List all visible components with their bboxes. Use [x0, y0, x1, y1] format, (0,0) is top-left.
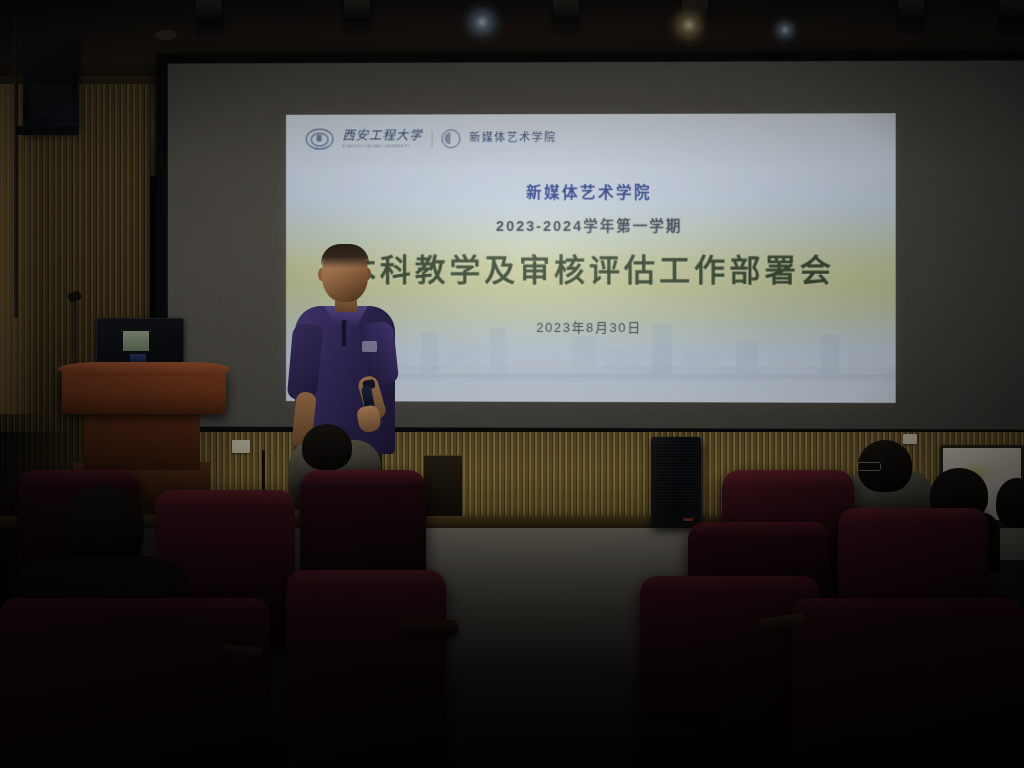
- presenter-hair: [321, 244, 369, 268]
- podium-body: [84, 408, 200, 470]
- speaker-support-pole: [14, 18, 18, 318]
- logo-divider: [432, 130, 433, 148]
- slide-logo-row: 西安工程大学 XI'AN POLYTECHNIC UNIVERSITY 新媒体艺…: [306, 128, 557, 149]
- audience-member-head-front: [302, 424, 352, 470]
- seat-rim: [838, 508, 988, 524]
- projection-screen-frame: 西安工程大学 XI'AN POLYTECHNIC UNIVERSITY 新媒体艺…: [156, 50, 1024, 441]
- seat-rim: [0, 598, 270, 614]
- seat-front-right: [792, 598, 1024, 768]
- track-spotlight-3: [553, 0, 579, 30]
- ceiling-downlight-3: [770, 15, 800, 45]
- slide-organization: 新媒体艺术学院: [286, 181, 896, 204]
- ceiling-vent-icon: [155, 30, 177, 40]
- wall-equipment-box: [423, 455, 463, 517]
- wall-speaker: [23, 35, 78, 133]
- seat-rim: [286, 570, 446, 586]
- track-spotlight-6: [1000, 0, 1024, 32]
- seat-rim: [688, 522, 830, 538]
- seat-rim: [640, 576, 820, 592]
- track-spotlight-5: [898, 0, 924, 30]
- seat-armrest-left: [400, 620, 458, 636]
- wall-outlet-right-icon: [903, 434, 917, 444]
- track-spotlight-2: [344, 0, 370, 30]
- school-mark-icon: [442, 129, 461, 148]
- wall-speaker-bracket: [16, 126, 78, 135]
- ceiling-downlight-2: [667, 3, 711, 47]
- presenter: [288, 246, 400, 461]
- ceiling-downlight-1: [460, 0, 504, 44]
- seat-front-center-left: [286, 570, 446, 768]
- university-name-english: XI'AN POLYTECHNIC UNIVERSITY: [342, 144, 422, 148]
- presenter-badge: [362, 341, 377, 352]
- school-name: 新媒体艺术学院: [469, 133, 556, 144]
- seat-rim: [18, 470, 140, 486]
- auditorium-scene: 西安工程大学 XI'AN POLYTECHNIC UNIVERSITY 新媒体艺…: [0, 0, 1024, 768]
- seat-front-left: [0, 598, 270, 768]
- presenter-polo-placket: [342, 320, 346, 346]
- seat-armrest-right: [645, 700, 715, 716]
- seat-rim: [722, 470, 854, 486]
- track-spotlight-1: [196, 0, 222, 32]
- slide-term: 2023-2024学年第一学期: [286, 215, 896, 236]
- university-name: 西安工程大学: [342, 130, 422, 143]
- podium-top-surface: [58, 362, 230, 376]
- seat-rim: [792, 598, 1024, 614]
- seat-rim: [155, 490, 295, 506]
- floor-speaker: [651, 437, 701, 527]
- monitor-screen: [123, 331, 149, 351]
- seat-rim: [300, 470, 426, 486]
- floor-speaker-badge: [683, 518, 693, 521]
- wall-outlet-icon: [232, 440, 250, 453]
- eyeglasses-icon: [857, 462, 881, 471]
- university-seal-icon: [306, 129, 334, 150]
